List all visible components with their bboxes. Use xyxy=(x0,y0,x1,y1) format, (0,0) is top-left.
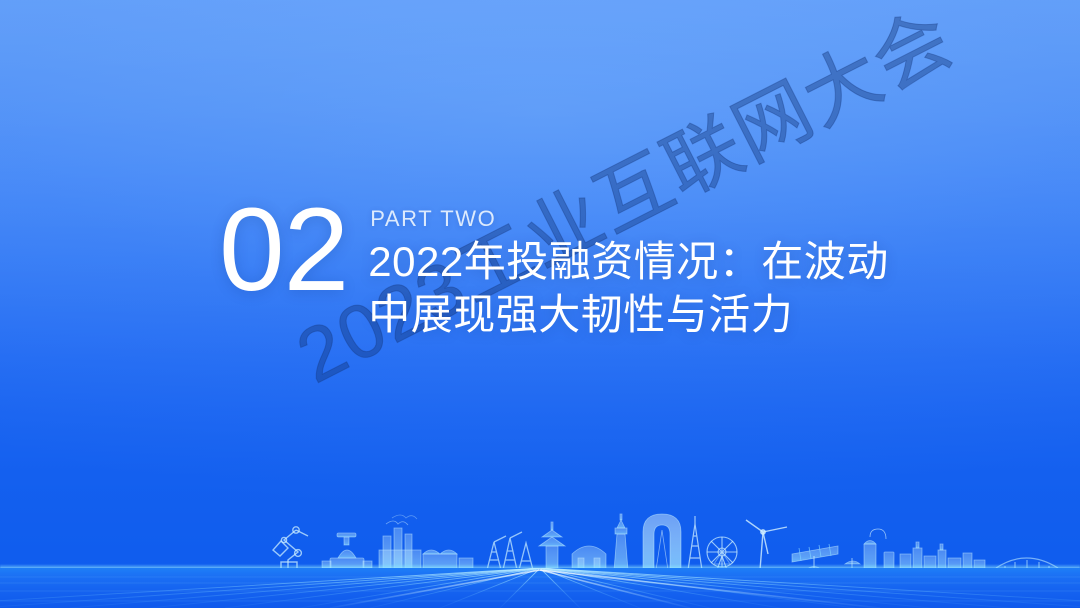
slide-content: 02 PART TWO 2022年投融资情况：在波动中展现强大韧性与活力 xyxy=(219,196,908,342)
section-number: 02 xyxy=(219,202,348,299)
section-eyebrow: PART TWO xyxy=(370,206,908,232)
perspective-ground-plane xyxy=(0,568,1080,608)
heading-group: PART TWO 2022年投融资情况：在波动中展现强大韧性与活力 xyxy=(366,196,908,342)
page-title: 2022年投融资情况：在波动中展现强大韧性与活力 xyxy=(368,236,908,342)
presentation-slide: 2023工业互联网大会 02 PART TWO 2022年投融资情况：在波动中展… xyxy=(0,0,1080,608)
